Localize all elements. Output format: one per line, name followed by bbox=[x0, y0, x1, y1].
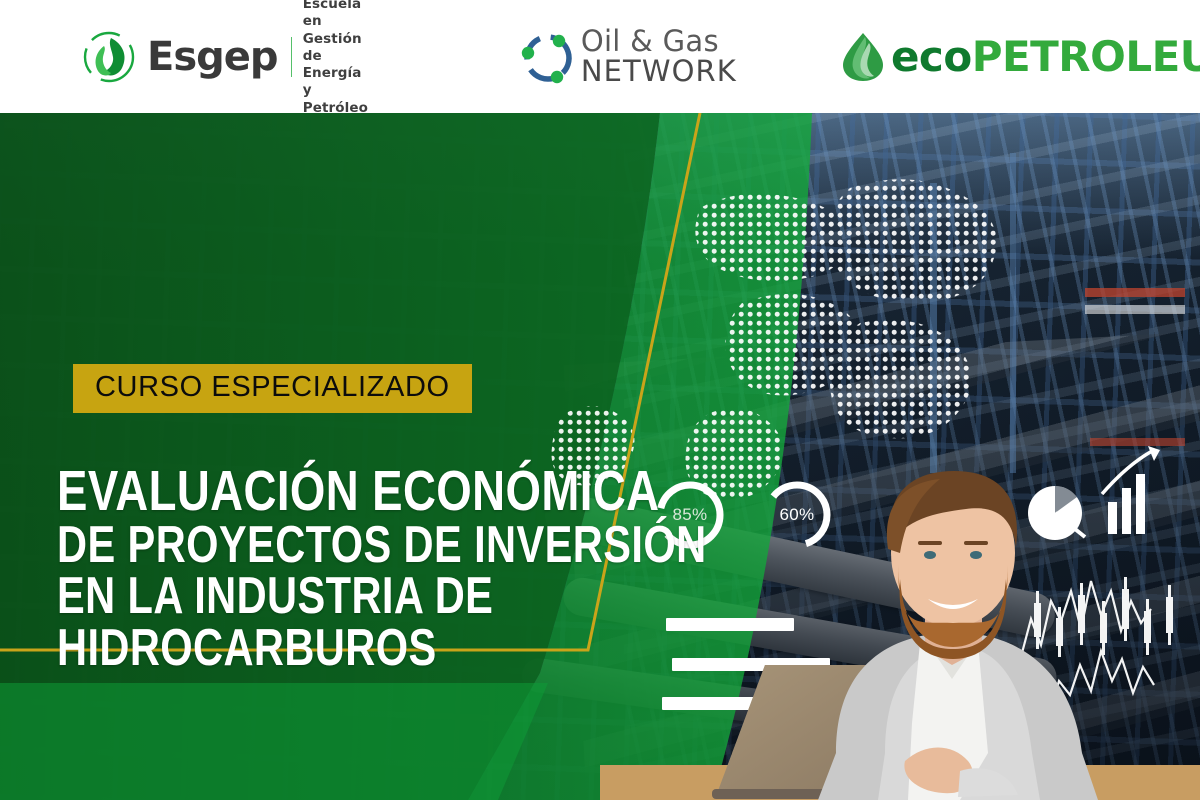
esgep-divider bbox=[291, 37, 292, 77]
network-circle-icon bbox=[518, 27, 578, 87]
course-badge: CURSO ESPECIALIZADO bbox=[73, 364, 472, 413]
ecopetroleum-word-petroleum: PETROLEUM bbox=[972, 32, 1200, 81]
ogn-line-2: NETWORK bbox=[581, 57, 737, 86]
course-promo-banner: 85% 60% CURSO ESPECIALIZADO EVALUACIÓN E… bbox=[0, 0, 1200, 800]
esgep-wordmark: Esgep bbox=[147, 37, 278, 77]
esgep-tagline-line-2: Energía y Petróleo bbox=[303, 65, 370, 117]
esgep-tagline-line-1: Escuela en Gestión de bbox=[303, 0, 370, 65]
ecopetroleum-word-eco: eco bbox=[891, 32, 972, 81]
logo-oil-and-gas-network[interactable]: Oil & Gas NETWORK bbox=[518, 0, 737, 113]
logo-header: Esgep Escuela en Gestión de Energía y Pe… bbox=[0, 0, 1200, 113]
esgep-tagline: Escuela en Gestión de Energía y Petróleo bbox=[303, 0, 370, 117]
course-badge-label: CURSO ESPECIALIZADO bbox=[95, 373, 450, 402]
person-with-laptop bbox=[0, 113, 1200, 800]
ecopetroleum-wordmark: ecoPETROLEUM bbox=[891, 36, 1200, 78]
hero-title-line-1: EVALUACIÓN ECONÓMICA bbox=[57, 465, 707, 519]
leaf-droplet-icon bbox=[841, 31, 885, 83]
hero-title-line-2: DE PROYECTOS DE INVERSIÓN bbox=[57, 521, 707, 571]
hero-title-line-4: HIDROCARBUROS bbox=[57, 624, 707, 674]
hero-title: EVALUACIÓN ECONÓMICA DE PROYECTOS DE INV… bbox=[57, 465, 869, 674]
ogn-line-1: Oil & Gas bbox=[581, 27, 737, 56]
ogn-text: Oil & Gas NETWORK bbox=[581, 27, 737, 86]
hero-stage: 85% 60% CURSO ESPECIALIZADO EVALUACIÓN E… bbox=[0, 113, 1200, 800]
logo-esgep[interactable]: Esgep Escuela en Gestión de Energía y Pe… bbox=[82, 0, 370, 113]
leaf-globe-icon bbox=[82, 30, 136, 84]
hero-title-line-3: EN LA INDUSTRIA DE bbox=[57, 572, 707, 622]
logo-ecopetroleum[interactable]: ecoPETROLEUM bbox=[841, 0, 1200, 113]
